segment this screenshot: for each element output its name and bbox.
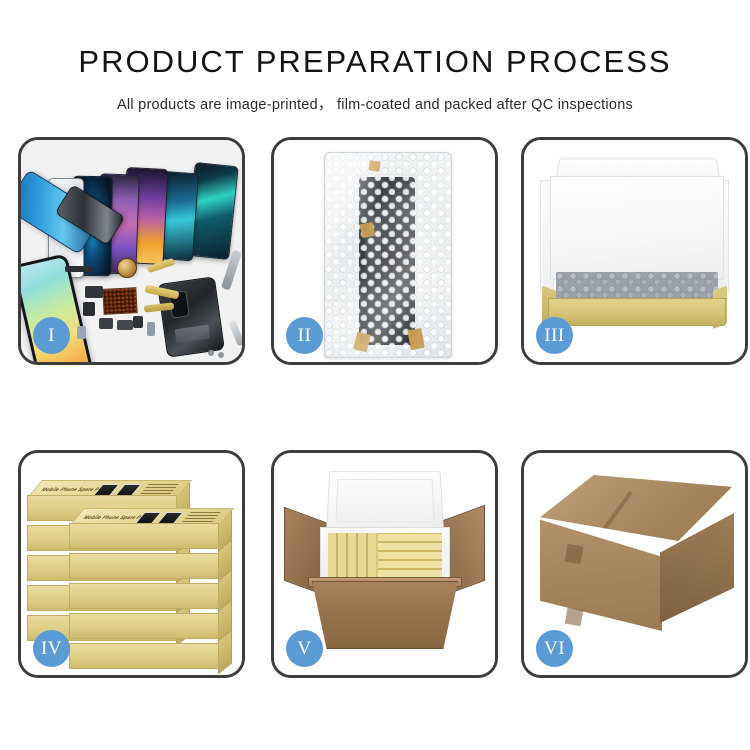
step-badge-2: II [286, 317, 323, 354]
camera-module-2 [83, 302, 95, 316]
page-title: PRODUCT PREPARATION PROCESS [0, 44, 750, 80]
plastic-sheen [325, 153, 451, 357]
step-panel-1[interactable]: I [18, 137, 245, 365]
camera-module-4 [117, 320, 133, 330]
step-badge-3: III [536, 317, 573, 354]
camera-module-5 [133, 316, 143, 328]
carton-tape-lower [565, 608, 584, 627]
yellow-boxes-column-left [328, 533, 376, 577]
yellow-boxes-inside [328, 533, 442, 577]
box-face [69, 553, 219, 579]
step-panel-2[interactable]: II [271, 137, 498, 365]
process-row-1: I II [0, 137, 750, 365]
step-panel-4[interactable]: Mobile Phone Spare Parts [18, 450, 245, 678]
process-row-2: Mobile Phone Spare Parts [0, 450, 750, 678]
small-part-2 [147, 322, 155, 336]
antenna-bar-part [65, 266, 93, 272]
box-face [69, 643, 219, 669]
step-panel-3[interactable]: III [521, 137, 748, 365]
product-preparation-infographic: PRODUCT PREPARATION PROCESS All products… [0, 0, 750, 750]
box-front-panel [548, 298, 726, 326]
foam-box-lid [326, 471, 444, 531]
bubble-wrap-bag [324, 152, 452, 358]
box-stack-item [69, 643, 219, 669]
circuit-board-chip [102, 287, 137, 315]
step-badge-5: V [286, 630, 323, 667]
box-stack-item [69, 553, 219, 579]
box-stack-item [69, 583, 219, 609]
box-stack-item [69, 613, 219, 639]
camera-module-3 [99, 318, 113, 329]
box-face [69, 613, 219, 639]
step-panel-6[interactable]: VI [521, 450, 748, 678]
yellow-boxes-column-right [378, 533, 442, 577]
step-badge-6: VI [536, 630, 573, 667]
repair-tool-2 [228, 320, 242, 347]
small-part-1 [77, 326, 86, 339]
carton-tape-upper [565, 544, 584, 565]
foam-insert [550, 176, 724, 280]
header: PRODUCT PREPARATION PROCESS All products… [0, 0, 750, 114]
page-subtitle: All products are image-printed， film-coa… [0, 93, 750, 114]
screw-dots [208, 350, 224, 358]
box-face [69, 523, 219, 549]
process-steps-grid: I II [0, 137, 750, 750]
step-badge-1: I [33, 317, 70, 354]
speaker-coin-part [117, 258, 137, 278]
step-badge-4: IV [33, 630, 70, 667]
camera-module-1 [85, 286, 103, 298]
step-panel-5[interactable]: V [271, 450, 498, 678]
box-face [69, 583, 219, 609]
carton-front-panel [312, 581, 458, 649]
box-stack-item: Mobile Phone Spare Parts [69, 523, 219, 549]
